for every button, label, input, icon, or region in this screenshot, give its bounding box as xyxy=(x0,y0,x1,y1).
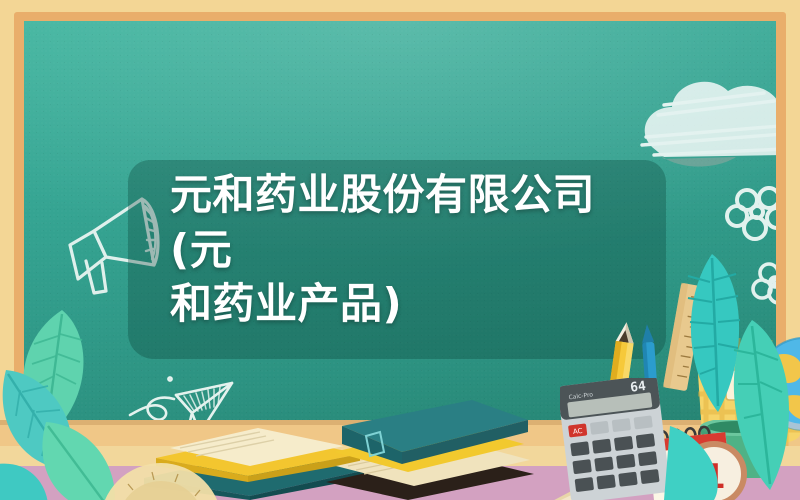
calculator-clear-key: AC xyxy=(573,427,584,436)
flower-doodle-large xyxy=(721,184,776,246)
calculator-display: 64 xyxy=(629,379,647,396)
protractor xyxy=(96,458,226,500)
calculator: Calc-Pro 64 AC xyxy=(560,378,670,500)
leaves-right xyxy=(660,250,800,500)
poster-canvas: 元和药业股份有限公司(元 和药业产品) xyxy=(0,0,800,500)
page-title: 元和药业股份有限公司(元 和药业产品) xyxy=(170,168,640,332)
teal-book xyxy=(322,400,537,500)
